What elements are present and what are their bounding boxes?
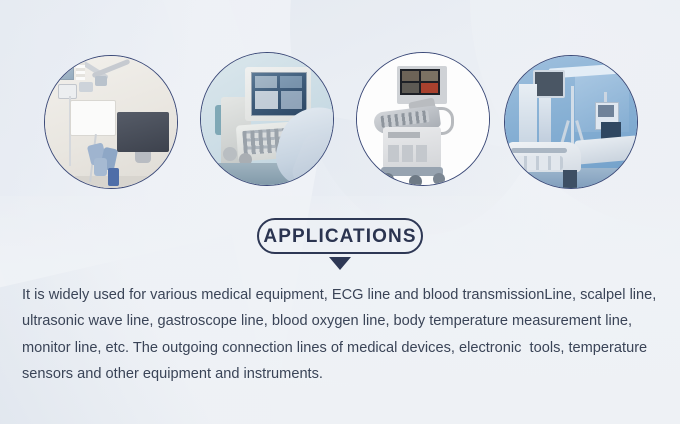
screen-region (255, 76, 277, 88)
gallery-image-ultrasound-cart (356, 52, 490, 186)
screen-region (255, 91, 278, 109)
monitor-buttons (76, 62, 85, 80)
photo-ultrasound-console (201, 53, 333, 185)
display-stand (135, 152, 151, 163)
cart-wheel (381, 173, 394, 185)
cart-drawer (402, 145, 413, 162)
gallery-image-icu-room (504, 55, 638, 189)
iv-pole (571, 86, 574, 144)
scan-image-quadrant (421, 71, 438, 81)
cart-drawer (388, 145, 399, 162)
patient-monitor-device (70, 100, 116, 136)
photo-icu-room (505, 56, 637, 188)
equipment-column (519, 84, 537, 146)
monitor-screen (49, 61, 74, 80)
applications-section: APPLICATIONS It is widely used for vario… (0, 0, 680, 424)
floor-equipment (563, 170, 577, 188)
applications-badge: APPLICATIONS (257, 218, 423, 254)
screen-region (280, 76, 302, 88)
cart-wheel (433, 173, 445, 185)
blue-bottle (108, 168, 119, 186)
gallery-image-patient-monitor (44, 55, 178, 189)
cable-connector (79, 82, 93, 92)
scan-image-quadrant (402, 71, 419, 81)
bedside-device-screen (598, 105, 614, 117)
photo-patient-monitor (45, 56, 177, 188)
screen-region (281, 91, 302, 109)
triangle-down-icon (329, 257, 351, 270)
scan-image-quadrant (402, 83, 419, 93)
photo-ultrasound-cart (357, 53, 489, 185)
equipment-column (539, 98, 551, 148)
computer-display (117, 112, 169, 152)
bed-frame (515, 156, 563, 170)
applications-badge-wrapper: APPLICATIONS (0, 218, 680, 270)
scan-image-quadrant (421, 83, 438, 93)
cart-wheel (409, 175, 422, 185)
ultrasound-probe (223, 147, 237, 161)
gallery-image-ultrasound-console (200, 52, 334, 186)
cable-clip (58, 84, 77, 99)
cart-drawer (416, 145, 427, 162)
applications-description: It is widely used for various medical eq… (22, 282, 664, 388)
blue-connector (94, 158, 107, 176)
bed-rail (511, 148, 567, 153)
cart-slot (388, 132, 420, 138)
gallery (0, 0, 680, 200)
vital-signs-monitor (533, 70, 565, 98)
cable-connector (95, 76, 107, 86)
